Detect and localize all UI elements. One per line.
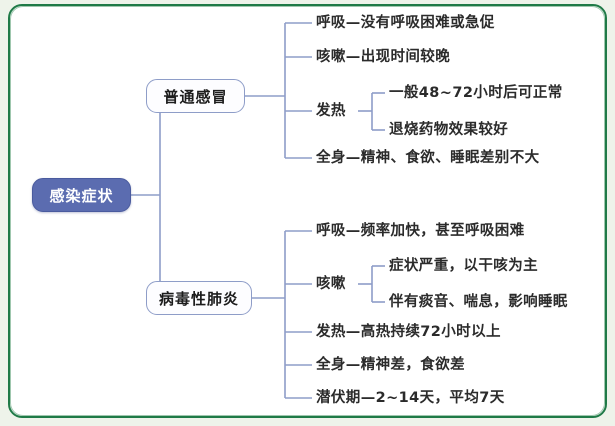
leaf-pneumonia-incubation-label: 潜伏期—2~14天，平均7天	[316, 390, 505, 406]
leaf-cold-cough: 咳嗽—出现时间较晚	[316, 50, 450, 65]
leaf-pneumonia-fever: 发热—高热持续72小时以上	[316, 325, 501, 340]
leaf-pneumonia-general-label: 全身—精神差，食欲差	[316, 357, 465, 373]
root-node-infection-symptoms[interactable]: 感染症状	[32, 178, 131, 212]
leaf-pneumonia-breathing: 呼吸—频率加快，甚至呼吸困难	[316, 224, 525, 239]
leaf-pneumonia-fever-label: 发热—高热持续72小时以上	[316, 324, 501, 340]
leaf-cold-fever-medicine: 退烧药物效果较好	[389, 123, 508, 138]
leaf-cold-fever-normalize: 一般48~72小时后可正常	[389, 86, 563, 101]
branch-node-viral-pneumonia-label: 病毒性肺炎	[159, 288, 239, 309]
leaf-cold-general-label: 全身—精神、食欲、睡眠差别不大	[316, 150, 540, 166]
root-node-label: 感染症状	[49, 185, 113, 206]
leaf-pneumonia-cough-phlegm-label: 伴有痰音、喘息，影响睡眠	[389, 294, 568, 310]
branch-node-viral-pneumonia[interactable]: 病毒性肺炎	[146, 281, 252, 315]
sublabel-pneumonia-cough: 咳嗽	[316, 277, 346, 292]
branch-node-common-cold[interactable]: 普通感冒	[146, 79, 245, 113]
leaf-pneumonia-incubation: 潜伏期—2~14天，平均7天	[316, 391, 505, 406]
leaf-cold-breathing: 呼吸—没有呼吸困难或急促	[316, 16, 495, 31]
leaf-pneumonia-cough-severe-label: 症状严重，以干咳为主	[389, 258, 538, 274]
sublabel-cold-fever-label: 发热	[316, 103, 346, 119]
leaf-pneumonia-general: 全身—精神差，食欲差	[316, 358, 465, 373]
leaf-pneumonia-cough-severe: 症状严重，以干咳为主	[389, 259, 538, 274]
leaf-cold-fever-normalize-label: 一般48~72小时后可正常	[389, 85, 563, 101]
leaf-cold-fever-medicine-label: 退烧药物效果较好	[389, 122, 508, 138]
leaf-pneumonia-breathing-label: 呼吸—频率加快，甚至呼吸困难	[316, 223, 525, 239]
leaf-cold-breathing-label: 呼吸—没有呼吸困难或急促	[316, 15, 495, 31]
leaf-cold-cough-label: 咳嗽—出现时间较晚	[316, 49, 450, 65]
sublabel-pneumonia-cough-label: 咳嗽	[316, 276, 346, 292]
leaf-pneumonia-cough-phlegm: 伴有痰音、喘息，影响睡眠	[389, 295, 568, 310]
sublabel-cold-fever: 发热	[316, 104, 346, 119]
branch-node-common-cold-label: 普通感冒	[163, 86, 227, 107]
leaf-cold-general: 全身—精神、食欲、睡眠差别不大	[316, 151, 540, 166]
